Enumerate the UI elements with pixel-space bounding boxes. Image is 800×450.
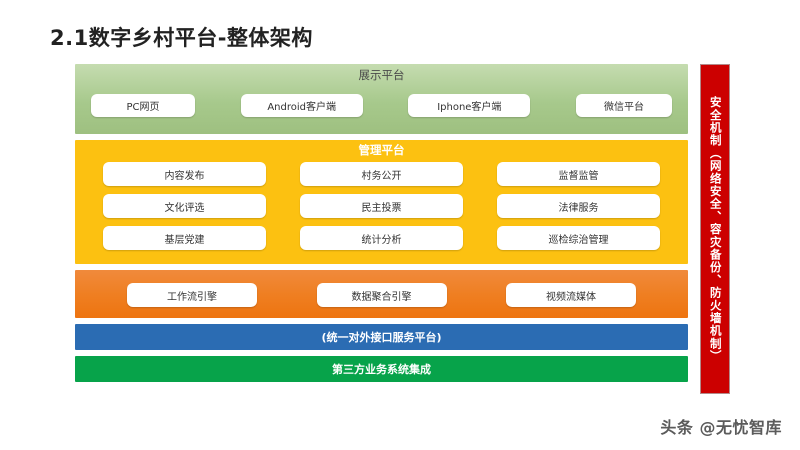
chip-village-affairs-disclosure[interactable]: 村务公开: [300, 162, 463, 186]
layer-unified-interface: (统一对外接口服务平台): [75, 324, 688, 350]
chip-pc-web[interactable]: PC网页: [91, 94, 195, 117]
chip-inspection-governance[interactable]: 巡检综治管理: [497, 226, 660, 250]
layer-management-platform: 管理平台 内容发布 村务公开 监督监管 文化评选 民主投票 法律服务 基层党建 …: [75, 140, 688, 264]
slide-canvas: 2.1数字乡村平台-整体架构 展示平台 PC网页 Android客户端 Ipho…: [0, 0, 800, 450]
management-platform-items: 内容发布 村务公开 监督监管 文化评选 民主投票 法律服务 基层党建 统计分析 …: [75, 162, 688, 250]
chip-content-publish[interactable]: 内容发布: [103, 162, 266, 186]
layer-engine-services: 工作流引擎 数据聚合引擎 视频流媒体: [75, 270, 688, 318]
watermark: 头条 @无忧智库: [660, 414, 782, 438]
chip-android-client[interactable]: Android客户端: [241, 94, 363, 117]
chip-iphone-client[interactable]: Iphone客户端: [408, 94, 530, 117]
layer-display-title: 展示平台: [75, 64, 688, 85]
layer-management-title: 管理平台: [75, 140, 688, 160]
unified-interface-label: (统一对外接口服务平台): [321, 329, 441, 345]
thirdparty-integration-label: 第三方业务系统集成: [332, 361, 431, 377]
chip-statistical-analysis[interactable]: 统计分析: [300, 226, 463, 250]
chip-democratic-vote[interactable]: 民主投票: [300, 194, 463, 218]
chip-culture-selection[interactable]: 文化评选: [103, 194, 266, 218]
chip-video-streaming[interactable]: 视频流媒体: [506, 283, 636, 307]
security-mechanism-label: 安全机制（网络安全、容灾备份、防火墙机制）: [709, 96, 721, 363]
display-platform-items: PC网页 Android客户端 Iphone客户端 微信平台: [75, 92, 688, 118]
layer-display-platform: 展示平台 PC网页 Android客户端 Iphone客户端 微信平台: [75, 64, 688, 134]
engine-services-items: 工作流引擎 数据聚合引擎 视频流媒体: [75, 283, 688, 307]
page-title: 2.1数字乡村平台-整体架构: [50, 22, 313, 52]
layer-thirdparty-integration: 第三方业务系统集成: [75, 356, 688, 382]
chip-workflow-engine[interactable]: 工作流引擎: [127, 283, 257, 307]
chip-grassroots-party-building[interactable]: 基层党建: [103, 226, 266, 250]
chip-supervision[interactable]: 监督监管: [497, 162, 660, 186]
chip-legal-service[interactable]: 法律服务: [497, 194, 660, 218]
security-mechanism-panel: 安全机制（网络安全、容灾备份、防火墙机制）: [700, 64, 730, 394]
chip-data-aggregation-engine[interactable]: 数据聚合引擎: [317, 283, 447, 307]
architecture-stack: 展示平台 PC网页 Android客户端 Iphone客户端 微信平台 管理平台…: [75, 64, 688, 394]
chip-wechat-platform[interactable]: 微信平台: [576, 94, 672, 117]
